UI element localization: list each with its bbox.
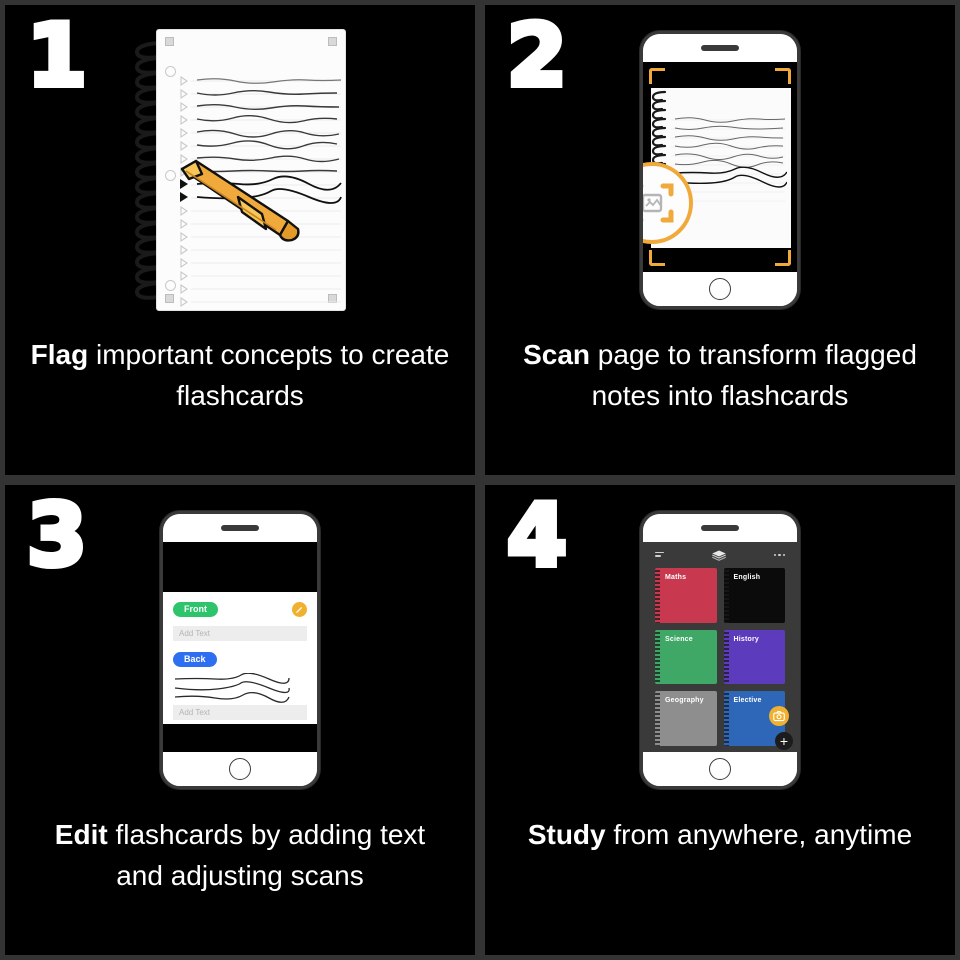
flashcard-editor-card: Front Add Text Back — [163, 592, 317, 724]
flag-markers — [179, 74, 191, 310]
step-2-artwork — [485, 5, 955, 335]
subject-label: Science — [665, 636, 693, 643]
page-corner-marker — [165, 37, 174, 46]
pencil-icon — [295, 605, 304, 614]
front-text-input[interactable]: Add Text — [173, 626, 307, 641]
tile-spiral-icon — [655, 568, 660, 623]
page-hole-marker — [165, 66, 176, 77]
phone-editor-illustration: Front Add Text Back — [160, 511, 320, 789]
caption-keyword: Flag — [31, 339, 89, 370]
step-panel-2: 2 — [485, 5, 955, 475]
phone-screen-editor: Front Add Text Back — [163, 542, 317, 752]
scan-document-icon — [643, 180, 675, 226]
handwriting-lines — [191, 74, 343, 310]
caption-text: flashcards by adding text and adjusting … — [108, 819, 426, 891]
step-3-artwork: Front Add Text Back — [5, 485, 475, 815]
scan-bracket-top-left — [649, 68, 665, 84]
camera-icon — [773, 710, 785, 722]
subject-label: History — [734, 636, 760, 643]
subject-tile-geography[interactable]: Geography — [655, 691, 717, 746]
tile-spiral-icon — [655, 691, 660, 746]
scan-bracket-bottom-right — [775, 250, 791, 266]
step-4-artwork: Maths — [485, 485, 955, 815]
subject-tile-history[interactable]: History — [724, 630, 786, 685]
how-it-works-board: 1 — [0, 0, 960, 960]
front-side-badge: Front — [173, 602, 218, 617]
page-corner-marker — [328, 37, 337, 46]
scan-bracket-top-right — [775, 68, 791, 84]
step-panel-4: 4 — [485, 485, 955, 955]
caption-keyword: Study — [528, 819, 606, 850]
subject-label: English — [734, 574, 761, 581]
phone-earpiece-area — [163, 514, 317, 542]
subject-tile-maths[interactable]: Maths — [655, 568, 717, 623]
home-button[interactable] — [709, 758, 731, 780]
tile-spiral-icon — [724, 691, 729, 746]
step-1-caption: Flag important concepts to create flashc… — [25, 335, 455, 416]
caption-keyword: Edit — [55, 819, 108, 850]
phone-home-area — [163, 752, 317, 786]
back-text-input[interactable]: Add Text — [173, 705, 307, 720]
subject-label: Maths — [665, 574, 686, 581]
add-subject-button[interactable]: + — [775, 732, 793, 750]
edit-button[interactable] — [292, 602, 307, 617]
step-1-artwork — [5, 5, 475, 335]
phone-speaker — [701, 525, 739, 531]
hamburger-menu-icon[interactable] — [655, 552, 664, 559]
phone-speaker — [221, 525, 259, 531]
step-panel-1: 1 — [5, 5, 475, 475]
camera-scan-button[interactable] — [769, 706, 789, 726]
notebook-page — [156, 29, 346, 311]
tile-spiral-icon — [724, 568, 729, 623]
step-panel-3: 3 Front — [5, 485, 475, 955]
phone-home-area — [643, 272, 797, 306]
subject-label: Elective — [734, 697, 762, 704]
phone-scan-illustration — [640, 31, 800, 309]
step-4-caption: Study from anywhere, anytime — [505, 815, 935, 856]
scanned-handwriting-lines — [173, 673, 291, 703]
subject-tile-science[interactable]: Science — [655, 630, 717, 685]
phone-earpiece-area — [643, 514, 797, 542]
page-hole-marker — [165, 280, 176, 291]
spiral-notebook-illustration — [134, 29, 346, 311]
subject-grid: Maths — [643, 568, 797, 752]
step-2-caption: Scan page to transform flagged notes int… — [505, 335, 935, 416]
caption-text: page to transform flagged notes into fla… — [590, 339, 917, 411]
phone-screen-library: Maths — [643, 542, 797, 752]
back-side-badge: Back — [173, 652, 217, 667]
subject-tile-english[interactable]: English — [724, 568, 786, 623]
caption-text: important concepts to create flashcards — [88, 339, 449, 411]
phone-earpiece-area — [643, 34, 797, 62]
phone-speaker — [701, 45, 739, 51]
caption-text: from anywhere, anytime — [606, 819, 913, 850]
scan-bracket-bottom-left — [649, 250, 665, 266]
app-top-bar — [643, 542, 797, 568]
phone-screen-scan — [643, 62, 797, 272]
tile-spiral-icon — [655, 630, 660, 685]
step-3-caption: Edit flashcards by adding text and adjus… — [25, 815, 455, 896]
home-button[interactable] — [709, 278, 731, 300]
page-hole-marker — [165, 170, 176, 181]
home-button[interactable] — [229, 758, 251, 780]
tile-spiral-icon — [724, 630, 729, 685]
phone-home-area — [643, 752, 797, 786]
page-corner-marker — [165, 294, 174, 303]
caption-keyword: Scan — [523, 339, 590, 370]
app-logo-icon — [710, 548, 728, 562]
more-options-icon[interactable] — [774, 554, 786, 557]
subject-label: Geography — [665, 697, 704, 704]
scanned-note-strip[interactable] — [173, 673, 307, 703]
phone-library-illustration: Maths — [640, 511, 800, 789]
